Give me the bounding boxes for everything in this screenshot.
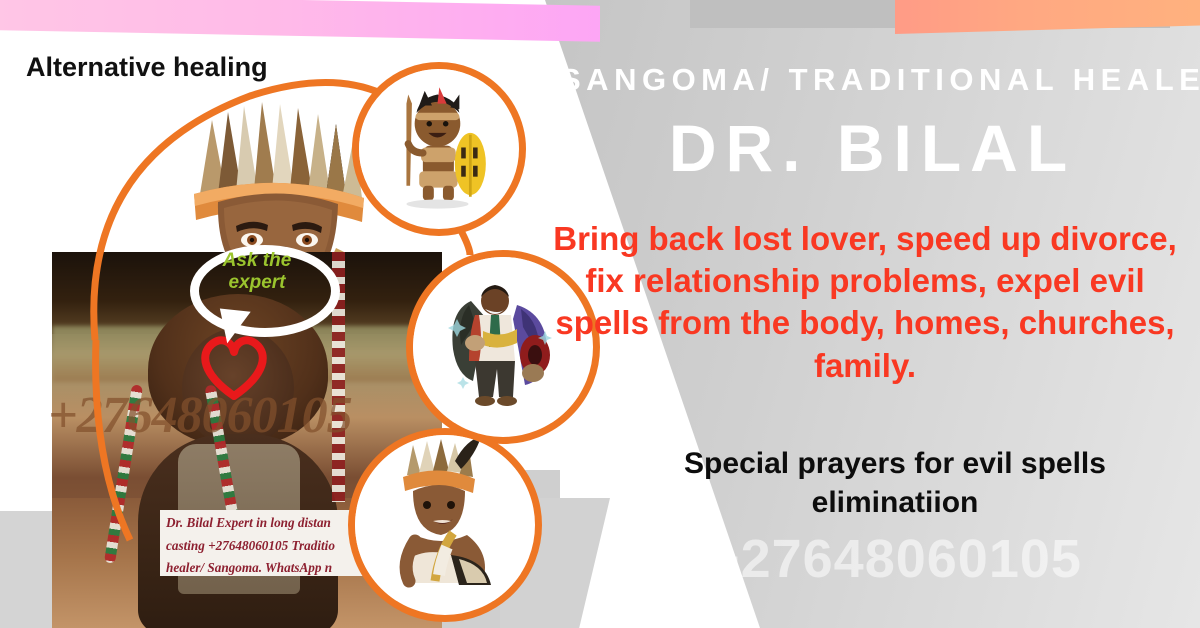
contact-phone-number: +27648060105	[600, 528, 1190, 590]
circle-kneeling-dancer	[348, 428, 542, 622]
poster-canvas: Alternative healing	[0, 0, 1200, 628]
page-title: Alternative healing	[26, 52, 268, 83]
prayers-description: Special prayers for evil spells eliminat…	[600, 444, 1190, 522]
speech-bubble-label: Ask the expert	[198, 250, 316, 294]
photo-phone-watermark: +27648060105	[48, 386, 448, 445]
services-description: Bring back lost lover, speed up divorce,…	[545, 218, 1185, 387]
top-pink-gradient-bar	[0, 0, 600, 42]
kicker-headline: SANGOMA/ TRADITIONAL HEALER	[560, 62, 1185, 98]
brand-name: DR. BILAL	[560, 110, 1185, 186]
circle-zulu-warrior-cartoon	[352, 62, 526, 236]
